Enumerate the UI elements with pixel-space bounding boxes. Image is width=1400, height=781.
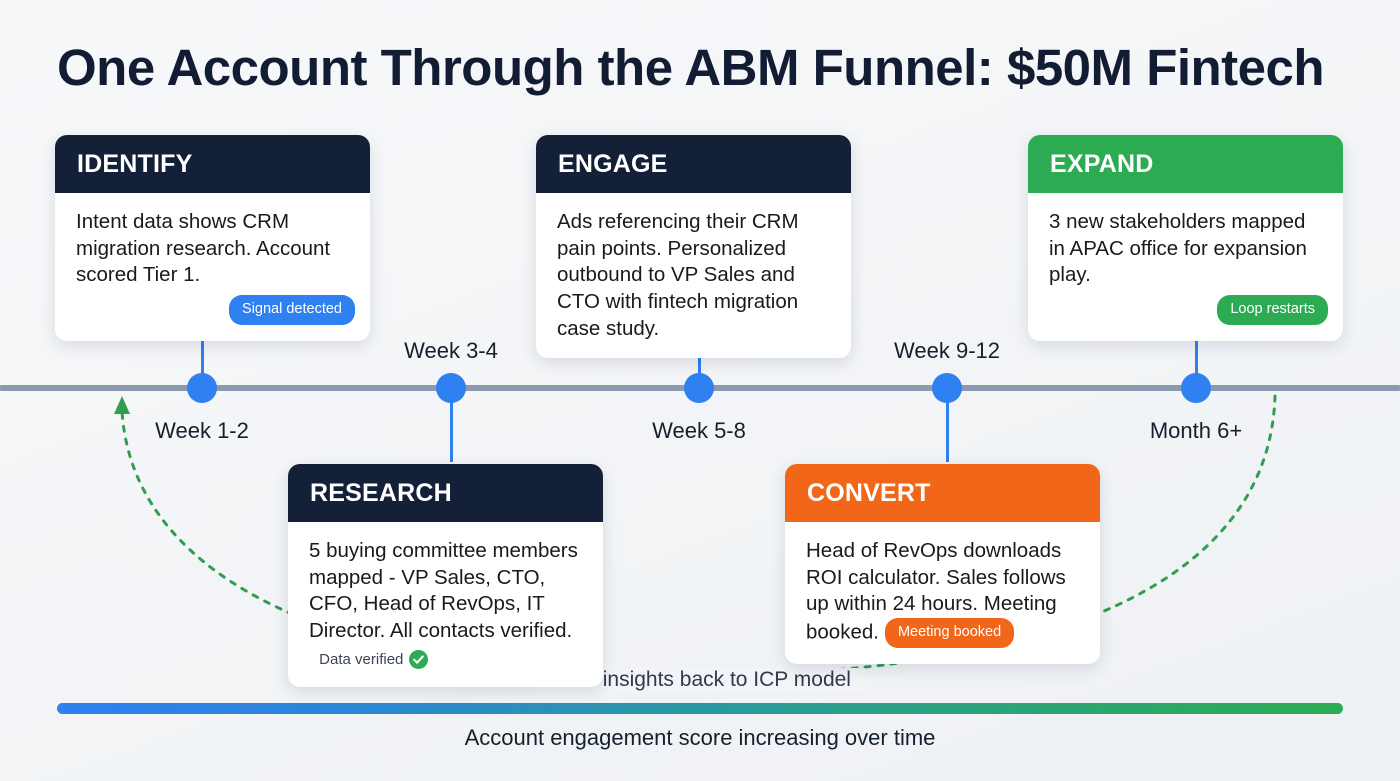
page-title: One Account Through the ABM Funnel: $50M… [57,38,1324,97]
stage-card-convert[interactable]: CONVERT Head of RevOps downloads ROI cal… [785,464,1100,664]
timeline-label-month-6-plus: Month 6+ [1150,418,1242,444]
feedback-loop-arrowhead [114,396,130,414]
stage-card-engage[interactable]: ENGAGE Ads referencing their CRM pain po… [536,135,851,358]
timeline-label-week-9-12: Week 9-12 [894,338,1000,364]
check-circle-icon [409,650,428,669]
stage-card-engage-title: ENGAGE [536,135,851,193]
status-badge-meeting-booked: Meeting booked [885,618,1014,648]
stage-card-identify-body: Intent data shows CRM migration research… [55,193,370,341]
status-badge-signal-detected: Signal detected [229,295,355,325]
timeline-label-week-3-4: Week 3-4 [404,338,498,364]
timeline-node-week-1-2[interactable] [187,373,217,403]
infographic-canvas: One Account Through the ABM Funnel: $50M… [0,0,1400,781]
stage-card-research[interactable]: RESEARCH 5 buying committee members mapp… [288,464,603,687]
stage-card-expand[interactable]: EXPAND 3 new stakeholders mapped in APAC… [1028,135,1343,341]
status-badge-data-verified-label: Data verified [319,650,403,670]
stage-card-research-body: 5 buying committee members mapped - VP S… [288,522,603,687]
stage-card-engage-body: Ads referencing their CRM pain points. P… [536,193,851,358]
timeline-label-week-1-2: Week 1-2 [155,418,249,444]
stage-card-expand-title: EXPAND [1028,135,1343,193]
timeline-node-week-5-8[interactable] [684,373,714,403]
timeline-node-week-3-4[interactable] [436,373,466,403]
timeline-node-month-6-plus[interactable] [1181,373,1211,403]
stage-card-engage-text: Ads referencing their CRM pain points. P… [557,210,799,340]
timeline-label-week-5-8: Week 5-8 [652,418,746,444]
stage-card-research-title: RESEARCH [288,464,603,522]
engagement-progress-label: Account engagement score increasing over… [465,725,936,751]
status-badge-data-verified: Data verified [309,650,428,670]
stage-card-identify[interactable]: IDENTIFY Intent data shows CRM migration… [55,135,370,341]
engagement-progress-bar [57,703,1343,714]
stage-card-expand-text: 3 new stakeholders mapped in APAC office… [1049,210,1307,286]
stage-card-identify-title: IDENTIFY [55,135,370,193]
stage-card-research-text: 5 buying committee members mapped - VP S… [309,539,578,642]
stage-card-convert-title: CONVERT [785,464,1100,522]
stage-card-convert-body: Head of RevOps downloads ROI calculator.… [785,522,1100,664]
stage-card-expand-body: 3 new stakeholders mapped in APAC office… [1028,193,1343,341]
stage-card-identify-text: Intent data shows CRM migration research… [76,210,330,286]
status-badge-loop-restarts: Loop restarts [1217,295,1328,325]
timeline-node-week-9-12[interactable] [932,373,962,403]
